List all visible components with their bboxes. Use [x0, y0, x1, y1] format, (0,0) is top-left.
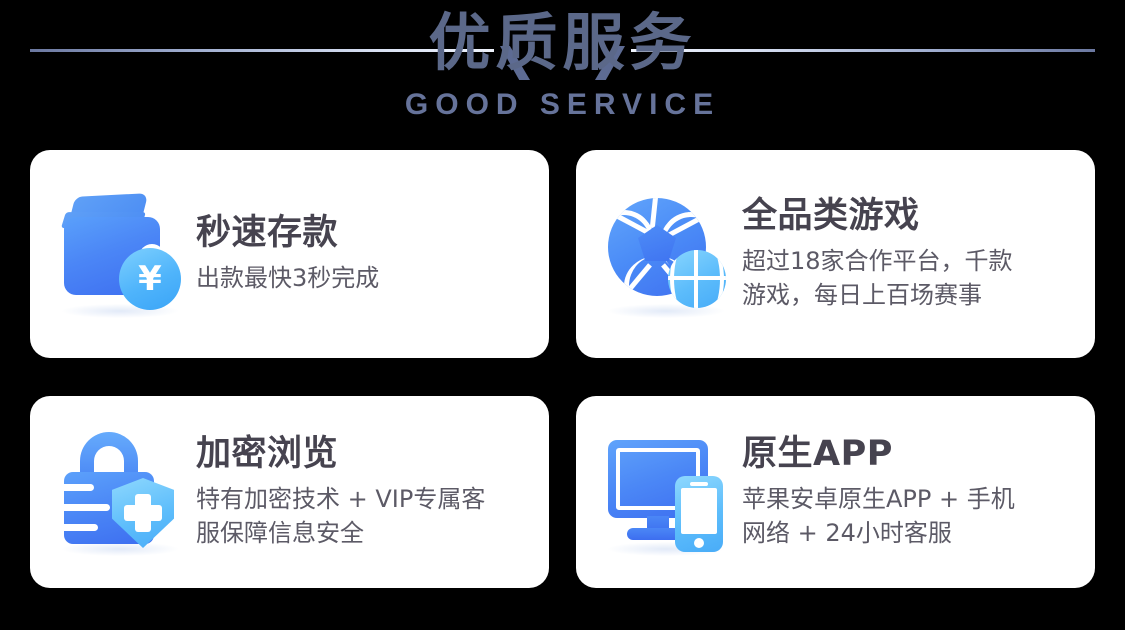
card-subtitle: 苹果安卓原生APP + 手机 网络 + 24小时客服 — [742, 482, 1077, 550]
page-title: 优质服务 — [0, 0, 1125, 74]
lock-stripe — [64, 484, 94, 491]
promo-banner: 优质服务 GOOD SERVICE ¥ 秒速存款 出款最快3秒完成 — [0, 0, 1125, 630]
card-subtitle-line: 出款最快3秒完成 — [196, 261, 531, 295]
feature-card-text: 原生APP 苹果安卓原生APP + 手机 网络 + 24小时客服 — [734, 434, 1077, 549]
card-subtitle-line: 特有加密技术 + VIP专属客 — [196, 482, 531, 516]
wallet-yen-icon: ¥ — [56, 188, 188, 320]
feature-card-games[interactable]: 全品类游戏 超过18家合作平台，千款 游戏，每日上百场赛事 — [576, 150, 1095, 358]
card-subtitle-line: 网络 + 24小时客服 — [742, 516, 1077, 550]
card-subtitle-line: 服保障信息安全 — [196, 516, 531, 550]
feature-card-text: 全品类游戏 超过18家合作平台，千款 游戏，每日上百场赛事 — [734, 196, 1077, 311]
card-subtitle-line: 游戏，每日上百场赛事 — [742, 278, 1077, 312]
soccer-seam — [650, 198, 659, 228]
feature-card-text: 秒速存款 出款最快3秒完成 — [188, 213, 531, 294]
feature-card-encryption[interactable]: 加密浏览 特有加密技术 + VIP专属客 服保障信息安全 — [30, 396, 549, 588]
card-title: 全品类游戏 — [742, 196, 1077, 236]
smartphone-speaker — [690, 482, 708, 486]
feature-card-text: 加密浏览 特有加密技术 + VIP专属客 服保障信息安全 — [188, 434, 531, 549]
lock-shield-icon — [56, 426, 188, 558]
card-title: 加密浏览 — [196, 434, 531, 474]
smartphone-screen — [681, 488, 717, 534]
banner-header: 优质服务 GOOD SERVICE — [0, 0, 1125, 142]
yen-coin-icon: ¥ — [119, 248, 181, 310]
header-title-group: 优质服务 GOOD SERVICE — [0, 0, 1125, 120]
page-subtitle: GOOD SERVICE — [0, 74, 1125, 120]
card-subtitle: 特有加密技术 + VIP专属客 服保障信息安全 — [196, 482, 531, 550]
card-subtitle-line: 超过18家合作平台，千款 — [742, 244, 1077, 278]
card-subtitle: 超过18家合作平台，千款 游戏，每日上百场赛事 — [742, 244, 1077, 312]
lock-stripe — [64, 524, 98, 531]
monitor-phone-icon — [602, 426, 734, 558]
card-title: 原生APP — [742, 434, 1077, 474]
lock-stripe — [64, 504, 110, 511]
card-subtitle-line: 苹果安卓原生APP + 手机 — [742, 482, 1077, 516]
feature-card-deposit[interactable]: ¥ 秒速存款 出款最快3秒完成 — [30, 150, 549, 358]
soccer-basketball-icon — [602, 188, 734, 320]
feature-card-native-app[interactable]: 原生APP 苹果安卓原生APP + 手机 网络 + 24小时客服 — [576, 396, 1095, 588]
card-title: 秒速存款 — [196, 213, 531, 253]
icon-shadow — [62, 542, 178, 556]
shield-cross-icon — [124, 505, 162, 521]
basketball-curve — [670, 250, 724, 308]
basketball-icon — [668, 250, 726, 308]
smartphone-home-button — [694, 538, 704, 548]
feature-card-grid: ¥ 秒速存款 出款最快3秒完成 — [30, 150, 1095, 588]
